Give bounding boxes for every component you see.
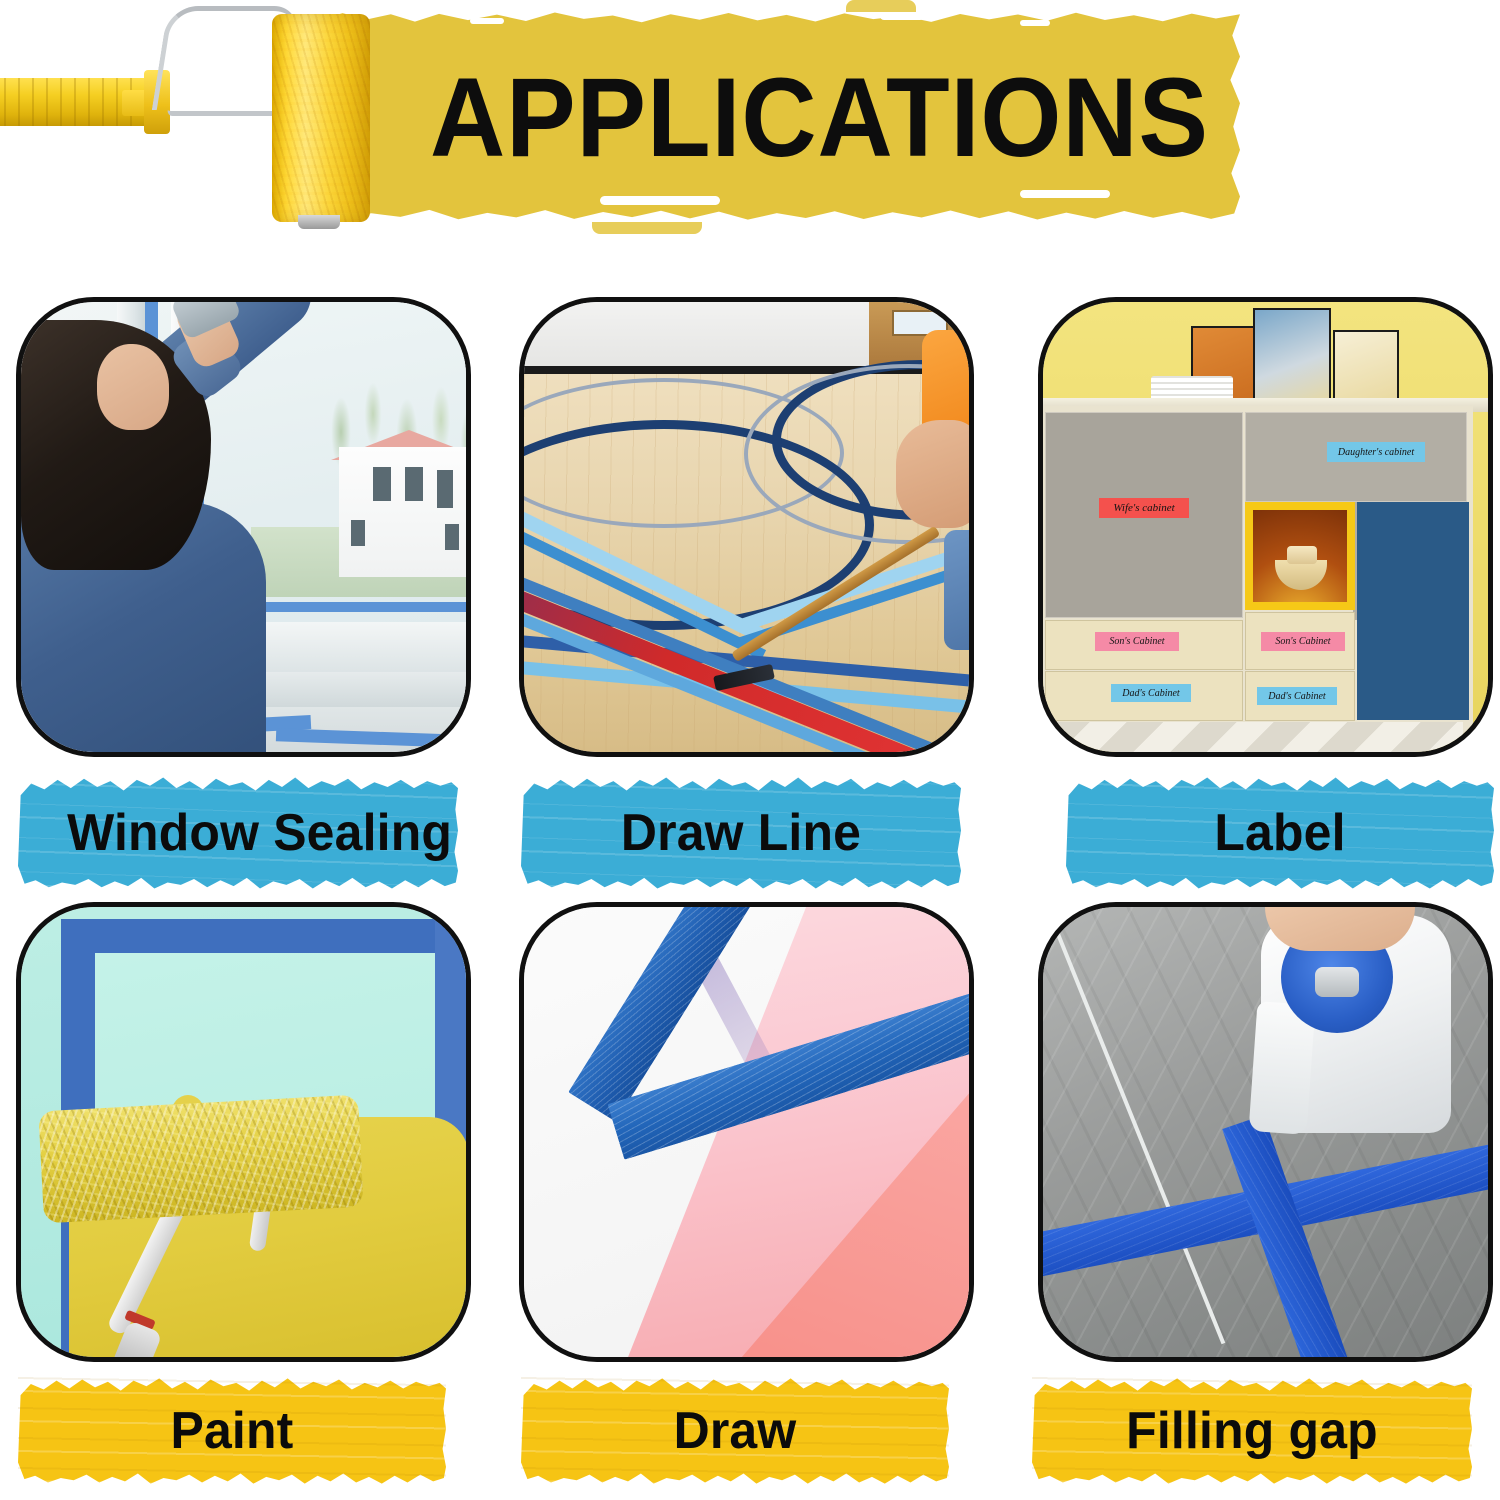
application-image-filling-gap <box>1038 902 1493 1362</box>
application-card-filling-gap[interactable]: Filling gap <box>1020 867 1500 1486</box>
tape-label: Wife's cabinet <box>1099 498 1189 518</box>
cereal-box <box>1253 308 1331 412</box>
application-image-draw-line <box>519 297 974 757</box>
application-card-draw[interactable]: Draw <box>505 867 1005 1486</box>
tape-label: Son's Cabinet <box>1261 632 1345 651</box>
application-card-window-sealing[interactable]: Window Sealing <box>0 262 500 881</box>
page-title: APPLICATIONS <box>430 55 1137 180</box>
header: APPLICATIONS <box>0 0 1500 262</box>
paint-roller-icon <box>0 0 380 230</box>
application-image-window-sealing <box>16 297 471 757</box>
applications-grid: Window Sealing <box>0 262 1500 1500</box>
caption-filling-gap: Filling gap <box>1032 1375 1472 1487</box>
application-image-draw <box>519 902 974 1362</box>
banner-fleck <box>880 12 924 20</box>
caption-label: Filling gap <box>1041 1405 1463 1457</box>
caption-label: Window Sealing <box>27 807 449 859</box>
caption-label: Draw Line <box>530 807 952 859</box>
tape-label: Son's Cabinet <box>1095 632 1179 651</box>
banner-drip <box>592 222 702 234</box>
grid-row-1: Window Sealing <box>0 262 1500 881</box>
banner-fleck <box>600 196 720 205</box>
banner-fleck <box>470 18 504 24</box>
tape-label: Daughter's cabinet <box>1327 442 1425 462</box>
application-card-draw-line[interactable]: Draw Line <box>505 262 1005 881</box>
application-image-paint <box>16 902 471 1362</box>
application-card-paint[interactable]: Paint <box>0 867 500 1486</box>
application-image-label: Wife's cabinet Daughter's cabinet Son's … <box>1038 297 1493 757</box>
blue-tape <box>61 919 471 953</box>
banner-fleck <box>1020 190 1110 198</box>
tape-label: Dad's Cabinet <box>1257 687 1337 705</box>
caption-paint: Paint <box>18 1375 446 1487</box>
caption-label: Draw <box>530 1405 941 1457</box>
tape-label: Dad's Cabinet <box>1111 684 1191 702</box>
caption-label: Paint <box>27 1405 438 1457</box>
application-card-label[interactable]: Wife's cabinet Daughter's cabinet Son's … <box>1020 262 1500 881</box>
grid-row-2: Paint Draw <box>0 867 1500 1486</box>
banner-drip <box>846 0 916 12</box>
caption-draw: Draw <box>521 1375 949 1487</box>
banner-fleck <box>1020 20 1050 26</box>
caption-label: Label <box>1075 807 1486 859</box>
